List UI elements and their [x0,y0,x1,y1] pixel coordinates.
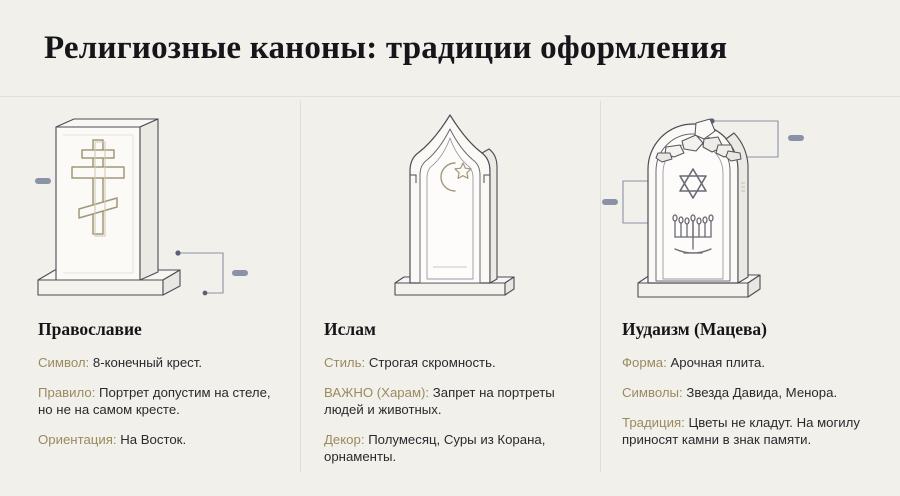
fact-key: Ориентация: [38,432,117,447]
judaism-text-block: Иудаизм (Мацева) Форма: Арочная плита. С… [600,315,900,448]
callout-base-marker [232,270,248,276]
orthodox-stele-illustration [0,97,300,315]
column-islam: Ислам Стиль: Строгая скромность. ВАЖНО (… [300,97,600,496]
fact-value: Строгая скромность. [369,355,496,370]
section-title-judaism: Иудаизм (Мацева) [622,319,882,340]
column-orthodoxy: Православие Символ: 8-конечный крест. Пр… [0,97,300,496]
callout-base-dot2 [203,291,208,296]
callout-base [178,253,223,293]
page-title: Религиозные каноны: традиции оформления [44,30,727,67]
fact-judaism-form: Форма: Арочная плита. [622,354,882,371]
fact-key: Традиция: [622,415,685,430]
fact-key: Стиль: [324,355,365,370]
fact-islam-decor: Декор: Полумесяц, Суры из Корана, орнаме… [324,431,578,465]
fact-key: ВАЖНО (Харам): [324,385,429,400]
section-title-orthodoxy: Православие [38,319,274,340]
fact-judaism-symbols: Символы: Звезда Давида, Менора. [622,384,882,401]
fact-orthodoxy-rule: Правило: Портрет допустим на стеле, но н… [38,384,274,418]
fact-key: Правило: [38,385,95,400]
fact-value: На Восток. [120,432,186,447]
fact-islam-style: Стиль: Строгая скромность. [324,354,578,371]
fact-key: Декор: [324,432,365,447]
callout-stones-marker [788,135,804,141]
fact-orthodoxy-orientation: Ориентация: На Восток. [38,431,274,448]
fact-judaism-tradition: Традиция: Цветы не кладут. На могилу при… [622,414,882,448]
callout-base-dot [175,250,180,255]
column-judaism: Иудаизм (Мацева) Форма: Арочная плита. С… [600,97,900,496]
jewish-matzeva-illustration [600,97,900,315]
fact-orthodoxy-symbol: Символ: 8-конечный крест. [38,354,274,371]
fact-key: Форма: [622,355,667,370]
islamic-stele-illustration [300,97,600,315]
fact-key: Символы: [622,385,683,400]
fact-key: Символ: [38,355,89,370]
fact-value: Звезда Давида, Менора. [686,385,837,400]
infographic-page: Религиозные каноны: традиции оформления [0,0,900,496]
stele-body [56,119,158,280]
columns-container: Православие Символ: 8-конечный крест. Пр… [0,97,900,496]
callout-cross-marker [35,178,51,184]
islam-text-block: Ислам Стиль: Строгая скромность. ВАЖНО (… [300,315,600,465]
page-header: Религиозные каноны: традиции оформления [0,0,900,96]
fact-islam-haram: ВАЖНО (Харам): Запрет на портреты людей … [324,384,578,418]
orthodoxy-text-block: Православие Символ: 8-конечный крест. Пр… [0,315,300,448]
section-title-islam: Ислам [324,319,578,340]
fact-value: 8-конечный крест. [93,355,202,370]
callout-symbols-marker [602,199,618,205]
fact-value: Арочная плита. [670,355,765,370]
